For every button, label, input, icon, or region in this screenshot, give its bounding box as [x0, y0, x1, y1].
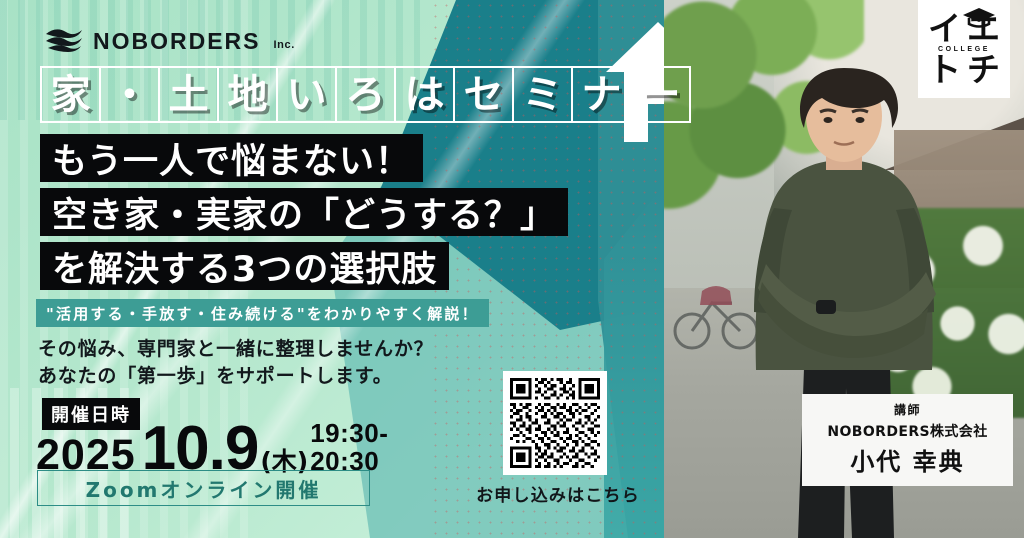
- event-date-row: 2025 10.9 (木) 19:30- 20:30: [36, 420, 388, 477]
- title-char: セ: [453, 66, 514, 123]
- logo-char-chi: チ: [967, 53, 1000, 86]
- event-time: 19:30- 20:30: [310, 420, 388, 475]
- headline-line-1: もう一人で悩まない！: [40, 134, 423, 182]
- speaker-role: 講師: [810, 401, 1005, 418]
- qr-caption: お申し込みはこちら: [472, 481, 644, 506]
- ietochi-college-logo: イ エ COLLEGE ト チ: [918, 0, 1010, 98]
- graduation-cap-icon: [962, 6, 996, 30]
- title-char: ・: [99, 66, 160, 123]
- logo-char-ie: イ: [928, 12, 961, 45]
- sub-banner: "活用する・手放す・住み続ける"をわかりやすく解説！: [36, 299, 489, 327]
- headline-line-2: 空き家・実家の「どうする？」: [40, 188, 568, 236]
- speaker-name: 小代 幸典: [810, 442, 1005, 477]
- title-char: 土: [158, 66, 219, 123]
- wave-mark-icon: [44, 26, 84, 56]
- title-char: 家: [40, 66, 101, 123]
- noborders-logo: NOBORDERS Inc.: [44, 26, 295, 56]
- title-char: ナ: [571, 66, 632, 123]
- headline-line-3: を解決する3つの選択肢: [40, 242, 449, 290]
- event-time-start: 19:30-: [310, 420, 388, 447]
- qr-code-icon[interactable]: [503, 371, 607, 475]
- speaker-card: 講師 NOBORDERS株式会社 小代 幸典: [802, 394, 1013, 486]
- title-char: ミ: [512, 66, 573, 123]
- speaker-company: NOBORDERS株式会社: [810, 421, 1005, 441]
- seminar-title-boxed: 家 ・ 土 地 い ろ は セ ミ ナ ー: [40, 66, 689, 123]
- title-char: ろ: [335, 66, 396, 123]
- qr-code-graphic: [510, 378, 600, 468]
- title-char: 地: [217, 66, 278, 123]
- lead-line-2: あなたの「第一歩」をサポートします。: [38, 363, 433, 390]
- title-char: ー: [630, 66, 691, 123]
- noborders-wordmark: NOBORDERS: [93, 28, 261, 55]
- lead-line-1: その悩み、専門家と一緒に整理しませんか？: [38, 336, 433, 363]
- lead-copy: その悩み、専門家と一緒に整理しませんか？ あなたの「第一歩」をサポートします。: [38, 336, 433, 390]
- logo-char-to: ト: [928, 53, 961, 86]
- noborders-inc-suffix: Inc.: [274, 39, 295, 51]
- title-char: い: [276, 66, 337, 123]
- title-char: は: [394, 66, 455, 123]
- venue-box: Zoomオンライン開催: [37, 470, 370, 506]
- event-month-day: 10.9: [142, 420, 259, 477]
- seminar-poster: NOBORDERS Inc. イ エ COLLEGE ト チ 家 ・ 土 地 い…: [0, 0, 1024, 538]
